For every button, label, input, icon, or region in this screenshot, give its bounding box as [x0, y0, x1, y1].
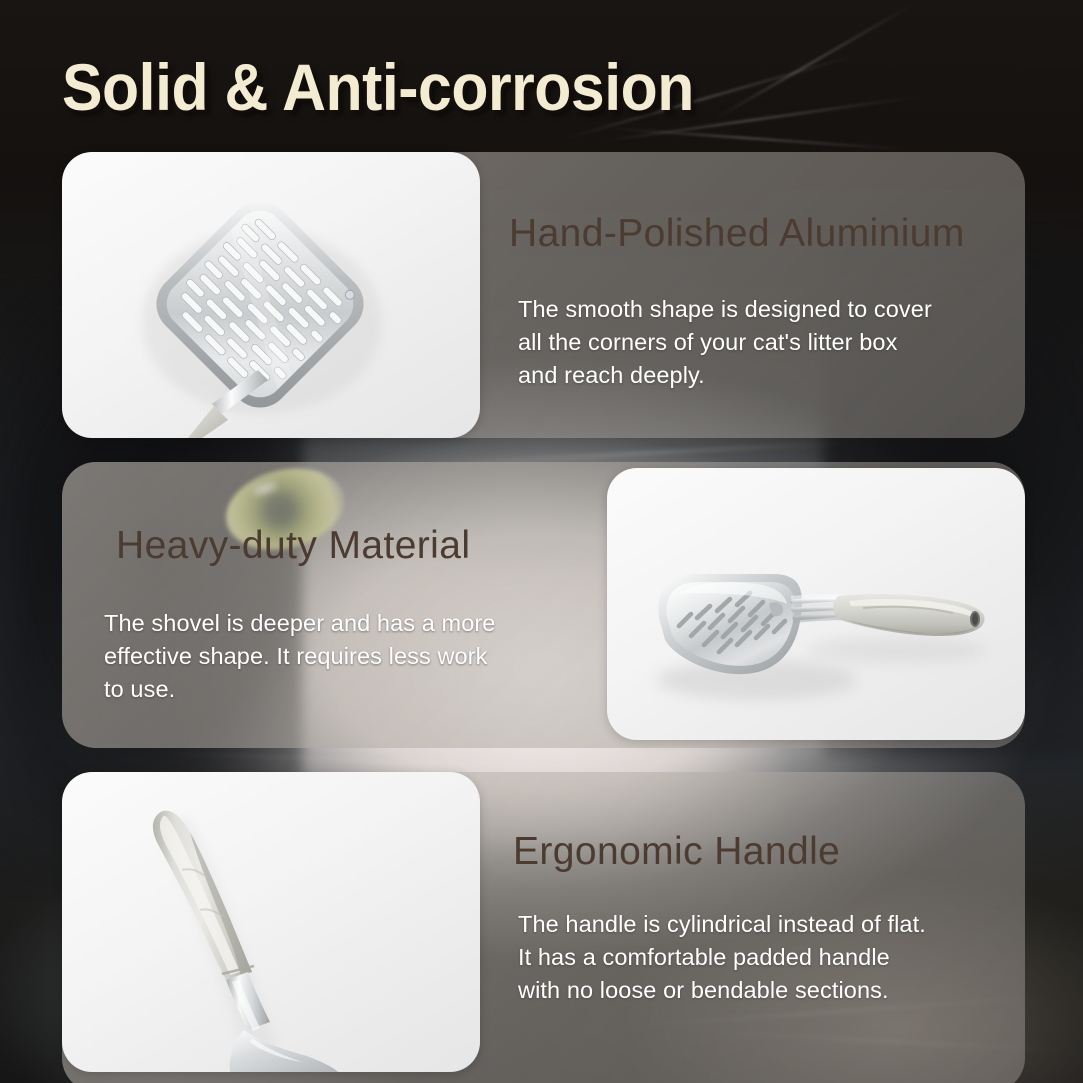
feature-body-line: and reach deeply. — [518, 359, 1018, 392]
page-title: Solid & Anti-corrosion — [62, 52, 694, 122]
feature-body-line: with no loose or bendable sections. — [518, 974, 1028, 1007]
product-illustration-handle-closeup — [62, 772, 480, 1072]
full-scoop-svg — [607, 468, 1025, 740]
feature-body-line: The smooth shape is designed to cover — [518, 293, 1018, 326]
product-photo-card-handle-closeup — [62, 772, 480, 1072]
scoop-head-svg — [62, 152, 480, 438]
feature-title-ergonomic-handle: Ergonomic Handle — [513, 830, 840, 874]
feature-body-line: The shovel is deeper and has a more — [104, 607, 574, 640]
product-photo-card-full-scoop — [607, 468, 1025, 740]
product-photo-card-scoop-head — [62, 152, 480, 438]
feature-body-line: all the corners of your cat's litter box — [518, 326, 1018, 359]
product-illustration-full-scoop — [607, 468, 1025, 740]
handle-closeup-svg — [62, 772, 480, 1072]
infographic-root: Solid & Anti-corrosion — [0, 0, 1083, 1083]
product-illustration-scoop-head — [62, 152, 480, 438]
feature-body-hand-polished-aluminium: The smooth shape is designed to cover al… — [518, 293, 1018, 392]
feature-title-hand-polished-aluminium: Hand-Polished Aluminium — [509, 212, 965, 256]
feature-body-line: to use. — [104, 673, 574, 706]
feature-title-heavy-duty-material: Heavy-duty Material — [116, 524, 470, 568]
feature-body-line: effective shape. It requires less work — [104, 640, 574, 673]
feature-body-line: The handle is cylindrical instead of fla… — [518, 908, 1028, 941]
feature-body-ergonomic-handle: The handle is cylindrical instead of fla… — [518, 908, 1028, 1007]
feature-body-heavy-duty-material: The shovel is deeper and has a more effe… — [104, 607, 574, 706]
feature-body-line: It has a comfortable padded handle — [518, 941, 1028, 974]
